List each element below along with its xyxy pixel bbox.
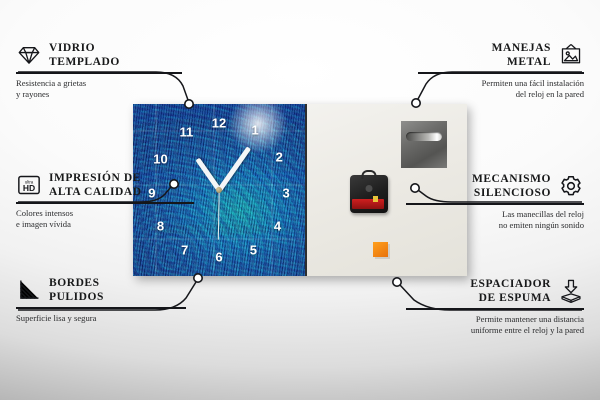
connector-node-vidrio <box>185 100 193 108</box>
ultra-hd-icon: ultra HD <box>16 172 42 198</box>
feature-manejas-metal: MANEJAS METAL Permiten una fácil instala… <box>418 41 584 101</box>
connector-node-bordes <box>194 274 202 282</box>
feature-desc-line1: Colores intensos <box>16 208 194 220</box>
feature-desc-line1: Resistencia a grietas <box>16 78 182 90</box>
feature-impresion-alta-calidad: ultra HD IMPRESIÓN DE ALTA CALIDAD Color… <box>16 171 194 231</box>
feature-desc-line1: Superficie lisa y segura <box>16 313 186 325</box>
feature-title-line1: IMPRESIÓN DE <box>49 171 142 185</box>
feature-mecanismo-silencioso: MECANISMO SILENCIOSO Las manecillas del … <box>406 172 584 232</box>
feature-desc-line1: Permiten una fácil instalación <box>418 78 584 90</box>
svg-text:HD: HD <box>23 183 35 193</box>
feature-title-line1: MANEJAS <box>492 41 551 55</box>
feature-title-line1: ESPACIADOR <box>470 277 551 291</box>
feature-title-line2: PULIDOS <box>49 290 104 304</box>
feature-desc-line2: e imagen vívida <box>16 219 194 231</box>
feature-vidrio-templado: VIDRIO TEMPLADO Resistencia a grietas y … <box>16 41 182 101</box>
feature-desc-line1: Las manecillas del reloj <box>406 209 584 221</box>
feature-desc-line2: y rayones <box>16 89 182 101</box>
infographic-canvas: 12 1 2 3 4 5 6 7 8 9 10 11 <box>0 0 600 400</box>
feature-title-line2: METAL <box>492 55 551 69</box>
feature-title-line2: SILENCIOSO <box>472 186 551 200</box>
feature-espaciador-espuma: ESPACIADOR DE ESPUMA Permite mantener un… <box>406 277 584 337</box>
feature-title-line1: VIDRIO <box>49 41 120 55</box>
feature-title-line2: TEMPLADO <box>49 55 120 69</box>
divider <box>16 307 186 309</box>
feature-title-line1: MECANISMO <box>472 172 551 186</box>
divider <box>406 203 584 205</box>
divider <box>418 72 584 74</box>
connector-node-espaciador <box>393 278 401 286</box>
feature-title-line1: BORDES <box>49 276 104 290</box>
feature-desc-line2: uniforme entre el reloj y la pared <box>406 325 584 337</box>
feature-desc-line2: del reloj en la pared <box>418 89 584 101</box>
divider <box>406 308 584 310</box>
divider <box>16 72 182 74</box>
feature-bordes-pulidos: BORDES PULIDOS Superficie lisa y segura <box>16 276 186 324</box>
polished-edges-icon <box>16 277 42 303</box>
foam-spacer-icon <box>558 278 584 304</box>
feature-title-line2: ALTA CALIDAD <box>49 185 142 199</box>
feature-title-line2: DE ESPUMA <box>470 291 551 305</box>
gear-icon <box>558 173 584 199</box>
diamond-icon <box>16 42 42 68</box>
feature-desc-line1: Permite mantener una distancia <box>406 314 584 326</box>
feature-desc-line2: no emiten ningún sonido <box>406 220 584 232</box>
wall-frame-hanger-icon <box>558 42 584 68</box>
divider <box>16 202 194 204</box>
